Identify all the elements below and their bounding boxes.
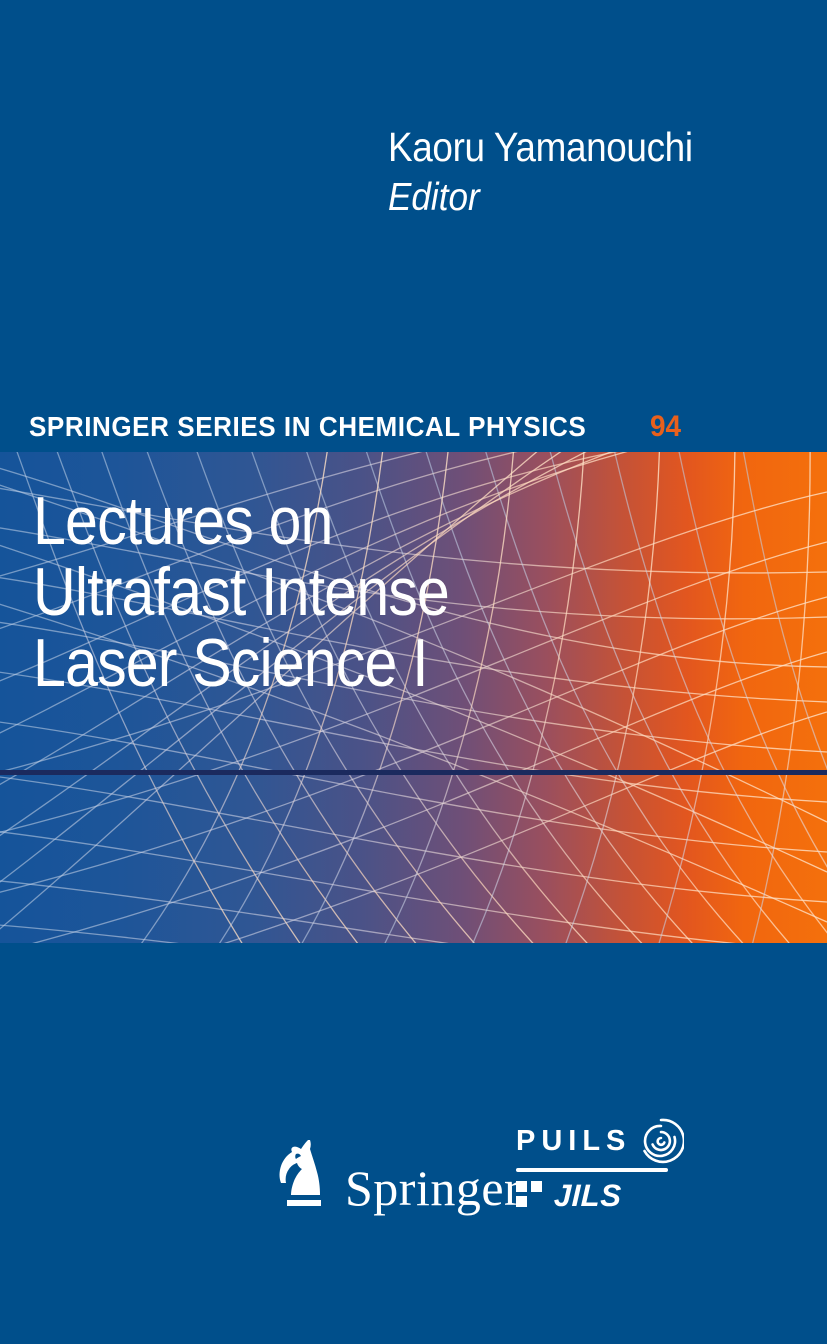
title-line-3: Laser Science I <box>33 628 642 699</box>
editor-role: Editor <box>388 176 766 220</box>
book-cover: Kaoru Yamanouchi Editor SPRINGER SERIES … <box>0 0 827 1344</box>
three-squares-icon <box>516 1181 546 1211</box>
editor-name: Kaoru Yamanouchi <box>388 124 766 170</box>
book-title: Lectures on Ultrafast Intense Laser Scie… <box>33 486 733 699</box>
springer-wordmark: Springer <box>345 1163 521 1213</box>
series-title: SPRINGER SERIES IN CHEMICAL PHYSICS <box>29 411 586 443</box>
series-line: SPRINGER SERIES IN CHEMICAL PHYSICS 94 <box>29 410 684 444</box>
spiral-vortex-icon <box>638 1118 684 1164</box>
jils-logo: JILS <box>516 1180 621 1212</box>
series-number: 94 <box>650 410 681 444</box>
puils-logo: PUILS <box>516 1118 684 1172</box>
puils-divider <box>516 1168 668 1172</box>
springer-logo: Springer <box>274 1137 521 1213</box>
title-line-2: Ultrafast Intense <box>33 557 642 628</box>
puils-wordmark: PUILS <box>516 1126 631 1156</box>
knight-chess-piece-icon <box>274 1137 332 1213</box>
jils-wordmark: JILS <box>553 1180 622 1212</box>
editor-block: Kaoru Yamanouchi Editor <box>388 124 808 220</box>
title-line-1: Lectures on <box>33 486 642 557</box>
horizontal-rule <box>0 770 827 775</box>
